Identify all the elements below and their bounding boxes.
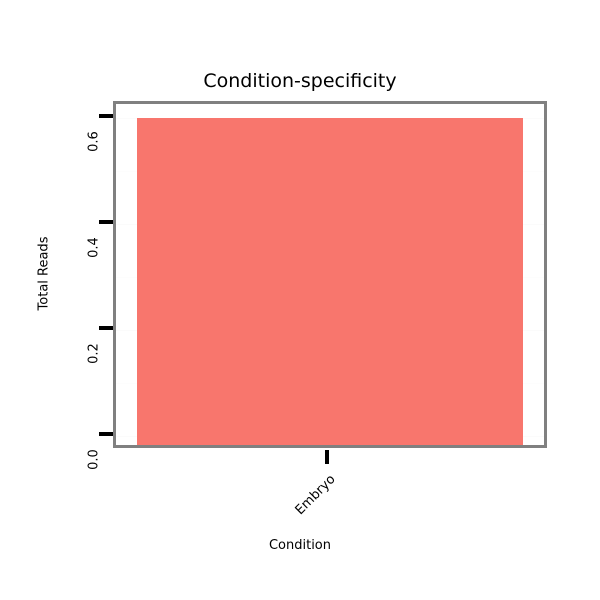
y-tick-label-3: 0.6: [87, 116, 102, 168]
chart-title: Condition-specificity: [0, 70, 600, 92]
x-tick-label-embryo: Embryo: [284, 472, 338, 526]
y-axis-label: Total Reads: [37, 214, 52, 334]
y-tick-label-0: 0.0: [87, 434, 102, 486]
chart-figure: Condition-specificity Total Reads 0.0 0.…: [0, 0, 600, 600]
y-tick-label-2: 0.4: [87, 222, 102, 274]
plot-panel: [113, 101, 547, 448]
y-tick-label-1: 0.2: [87, 328, 102, 380]
plot-panel-inner: [116, 104, 544, 445]
x-tick-mark-0: [325, 450, 329, 464]
x-axis-label: Condition: [0, 538, 600, 553]
bar-embryo: [137, 118, 522, 445]
